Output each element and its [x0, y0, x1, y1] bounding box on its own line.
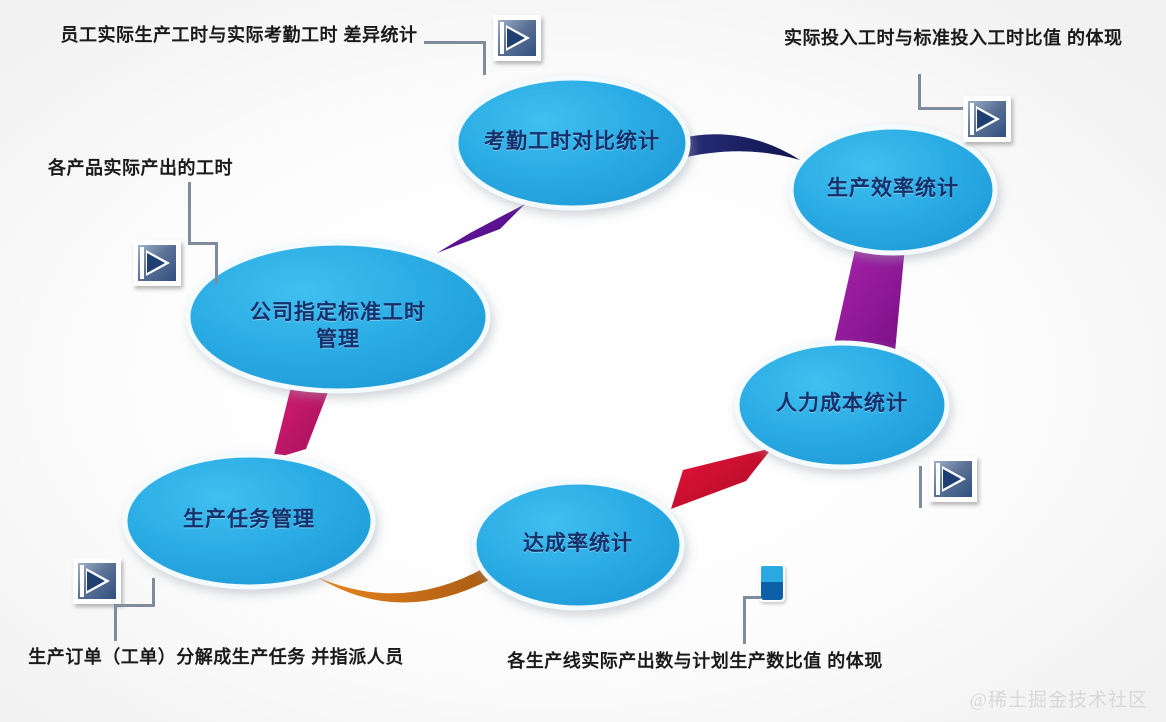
- split-icon-top: [761, 566, 783, 582]
- annotation-standard-text: 各产品实际产出的工时: [48, 155, 388, 181]
- split-icon-bottom: [761, 582, 783, 600]
- connector-achieve-to-task: [317, 567, 491, 603]
- play-icon-bar: [936, 463, 940, 495]
- play-icon-production-task-inner: [78, 563, 116, 599]
- diagram-canvas: 考勤工时对比统计 生产效率统计 人力成本统计 达成率统计 生产任务管理 公司指定…: [0, 0, 1166, 722]
- play-icon-bar: [140, 247, 144, 279]
- leader-line-attendance-v: [483, 41, 486, 75]
- play-icon-efficiency-inner: [968, 101, 1006, 137]
- leader-line-standard-h: [188, 242, 218, 245]
- leader-line-attendance-h: [424, 41, 486, 44]
- leader-line-task-h: [114, 604, 155, 607]
- node-production-efficiency[interactable]: [791, 127, 995, 253]
- node-production-task[interactable]: [125, 455, 373, 587]
- node-achievement-rate[interactable]: [474, 482, 682, 608]
- leader-line-labor-cost-v: [919, 466, 922, 508]
- play-triangle-fill: [943, 469, 961, 489]
- leader-line-efficiency-h: [918, 107, 968, 110]
- leader-line-achieve-h: [743, 596, 761, 599]
- leader-line-standard-v1: [188, 182, 191, 244]
- play-icon-bar: [970, 103, 974, 135]
- annotation-task-text: 生产订单（工单）分解成生产任务 并指派人员: [26, 644, 406, 670]
- annotation-efficiency-text: 实际投入工时与标准投入工时比值 的体现: [784, 25, 1164, 51]
- play-icon-production-task[interactable]: [73, 558, 121, 604]
- play-icon-bar: [80, 565, 84, 597]
- connector-attendance-to-efficiency: [673, 134, 800, 160]
- play-icon-standard-inner: [138, 245, 176, 281]
- leader-line-standard-v2: [215, 242, 218, 284]
- play-triangle-fill: [977, 109, 995, 129]
- connector-labor-cost-to-achieve: [671, 448, 772, 509]
- play-icon-attendance[interactable]: [493, 15, 541, 61]
- node-labor-cost[interactable]: [737, 343, 947, 467]
- play-icon-efficiency[interactable]: [963, 96, 1011, 142]
- play-icon-bar: [500, 22, 504, 54]
- node-standard-hours[interactable]: [188, 243, 488, 391]
- watermark: @稀土掘金技术社区: [970, 685, 1149, 712]
- play-icon-attendance-inner: [498, 20, 536, 56]
- play-triangle-fill: [87, 571, 105, 591]
- annotation-achieve-text: 各生产线实际产出数与计划生产数比值 的体现: [470, 648, 920, 674]
- annotation-attendance-text: 员工实际生产工时与实际考勤工时 差异统计: [54, 22, 424, 48]
- connector-task-to-standard: [273, 383, 330, 459]
- leader-line-achieve-v: [743, 596, 746, 644]
- split-rectangle-icon-achievement[interactable]: [759, 564, 785, 602]
- play-icon-standard[interactable]: [133, 240, 181, 286]
- node-attendance-statistics[interactable]: [456, 78, 688, 208]
- play-triangle-fill: [147, 253, 165, 273]
- play-triangle-fill: [507, 28, 525, 48]
- leader-line-task-v2: [114, 604, 117, 641]
- connector-standard-to-attendance: [437, 204, 525, 253]
- play-icon-labor-cost-inner: [934, 461, 972, 497]
- leader-line-efficiency-v: [918, 74, 921, 110]
- connector-efficiency-to-labor-cost: [833, 246, 905, 352]
- leader-line-task-v1: [152, 578, 155, 606]
- play-icon-labor-cost[interactable]: [929, 456, 977, 502]
